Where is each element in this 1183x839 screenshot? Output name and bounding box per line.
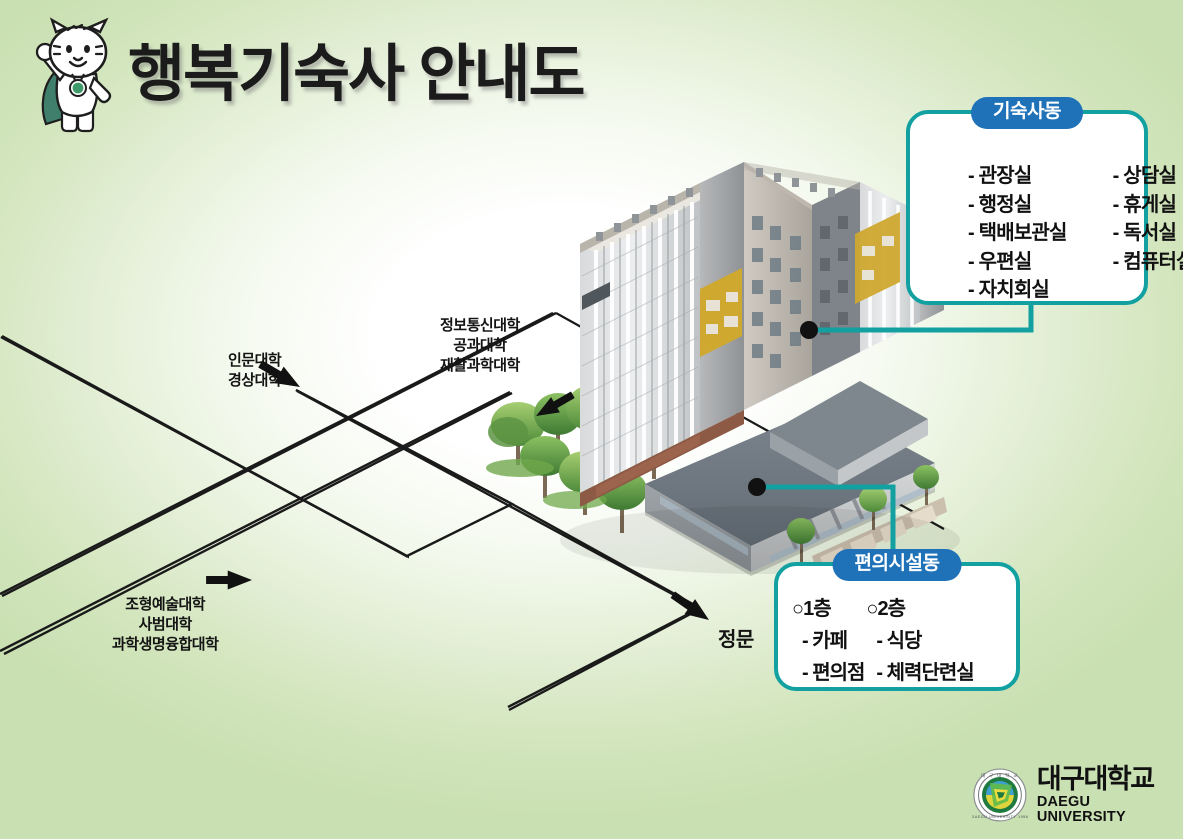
road-label-humanities: 인문대학 경상대학 <box>228 351 281 391</box>
road-label-line: 재활과학대학 <box>440 356 520 376</box>
facility-item: - 독서실 <box>1113 221 1183 247</box>
callout-dormitory-badge: 기숙사동 <box>971 97 1083 129</box>
callout-convenience-badge: 편의시설동 <box>833 549 962 581</box>
poster-canvas: 행복기숙사 안내도 인문대학 경상대학 정보통신대학 공과대학 재활과학대학 조… <box>0 0 1183 839</box>
road-label-arts: 조형예술대학 사범대학 과학생명융합대학 <box>112 595 218 654</box>
facility-item: - 자치회실 <box>968 278 1067 304</box>
callout-convenience-floor-2: ○2층 - 식당 - 체력단련실 <box>866 592 973 685</box>
logo-name-korean: 대구대학교 <box>1037 766 1183 793</box>
facility-item: - 휴게실 <box>1113 193 1183 219</box>
daegu-university-emblem-icon: 대 구 대 학 교 DAEGU UNIVERSITY 1956 <box>972 767 1028 823</box>
callout-convenience-floor-1: ○1층 - 카페 - 편의점 <box>792 592 864 685</box>
facility-item: - 컴퓨터실 <box>1113 250 1183 276</box>
road-label-line: 과학생명융합대학 <box>112 635 218 655</box>
arrow-left-arts <box>206 571 252 590</box>
callout-dormitory-column-1: - 관장실 - 행정실 - 택배보관실 - 우편실 - 자치회실 <box>928 164 1067 304</box>
floor-facility-item: - 카페 <box>792 624 864 653</box>
svg-text:DAEGU UNIVERSITY 1956: DAEGU UNIVERSITY 1956 <box>972 815 1028 819</box>
floor-facility-item: - 체력단련실 <box>866 656 973 685</box>
facility-item: - 우편실 <box>968 250 1067 276</box>
floor-facility-item: - 식당 <box>866 624 973 653</box>
callout-dormitory: 기숙사동 - 관장실 - 행정실 - 택배보관실 - 우편실 - 자치회실 - … <box>906 110 1148 305</box>
facility-item: - 행정실 <box>968 193 1067 219</box>
floor-facility-item: - 편의점 <box>792 656 864 685</box>
road-label-line: 경상대학 <box>228 371 281 391</box>
main-gate-text: 정문 <box>718 627 754 653</box>
floor-heading: ○2층 <box>866 592 973 621</box>
callout-convenience: 편의시설동 ○1층 - 카페 - 편의점 ○2층 - 식당 - 체력단련실 <box>774 562 1020 691</box>
road-label-line: 정보통신대학 <box>440 316 520 336</box>
road-label-ict: 정보통신대학 공과대학 재활과학대학 <box>440 316 520 375</box>
white-tiger-mascot-icon <box>20 16 122 134</box>
road-label-line: 인문대학 <box>228 351 281 371</box>
anchor-dot-dormitory <box>800 321 818 339</box>
page-header: 행복기숙사 안내도 <box>20 16 584 134</box>
road-label-line: 조형예술대학 <box>112 595 218 615</box>
road-label-main-gate: 정문 <box>718 627 754 653</box>
page-title: 행복기숙사 안내도 <box>128 42 584 107</box>
facility-item: - 택배보관실 <box>968 221 1067 247</box>
facility-item: - 관장실 <box>968 164 1067 190</box>
facility-item: - 상담실 <box>1113 164 1183 190</box>
anchor-dot-convenience <box>748 478 766 496</box>
road-label-line: 사범대학 <box>112 615 218 635</box>
callout-dormitory-column-2: - 상담실 - 휴게실 - 독서실 - 컴퓨터실 <box>1073 164 1183 304</box>
road-label-line: 공과대학 <box>440 336 520 356</box>
university-logo: 대 구 대 학 교 DAEGU UNIVERSITY 1956 대구대학교 DA… <box>972 766 1183 824</box>
floor-heading: ○1층 <box>792 592 864 621</box>
svg-text:대 구 대 학 교: 대 구 대 학 교 <box>981 772 1019 779</box>
logo-name-english: DAEGU UNIVERSITY <box>1037 795 1183 824</box>
